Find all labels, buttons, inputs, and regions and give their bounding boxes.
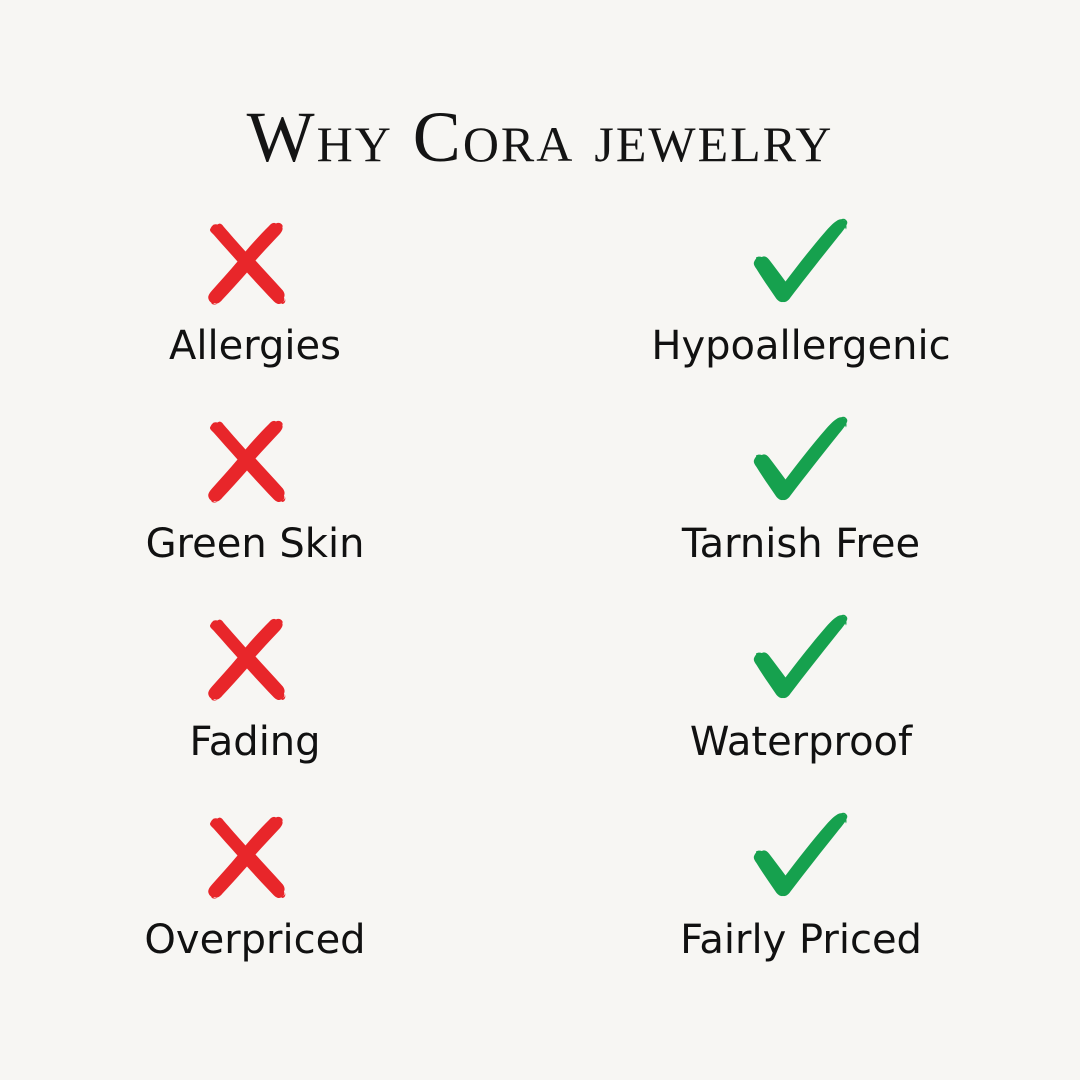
cross-icon [199,808,311,912]
con-cell: Green Skin [0,412,540,610]
con-label: Overpriced [144,918,365,962]
con-label: Allergies [169,324,341,368]
comparison-row: Green Skin Tarnish Free [0,412,1080,610]
check-icon [745,808,857,912]
pro-cell: Waterproof [540,610,1080,808]
con-cell: Allergies [0,214,540,412]
comparison-row: Overpriced Fairly Priced [0,808,1080,1006]
pro-label: Hypoallergenic [651,324,950,368]
page-title: Why Cora jewelry [0,96,1080,179]
con-label: Green Skin [146,522,365,566]
pro-cell: Tarnish Free [540,412,1080,610]
comparison-row: Allergies Hypoallergenic [0,214,1080,412]
cross-icon [199,214,311,318]
comparison-grid: Allergies Hypoallergenic [0,214,1080,1006]
pro-label: Tarnish Free [682,522,920,566]
cross-icon [199,610,311,714]
con-cell: Overpriced [0,808,540,1006]
con-label: Fading [189,720,320,764]
pro-label: Waterproof [690,720,912,764]
comparison-row: Fading Waterproof [0,610,1080,808]
pro-label: Fairly Priced [680,918,922,962]
check-icon [745,214,857,318]
con-cell: Fading [0,610,540,808]
check-icon [745,412,857,516]
cross-icon [199,412,311,516]
check-icon [745,610,857,714]
pro-cell: Fairly Priced [540,808,1080,1006]
poster: Why Cora jewelry Allergies [0,0,1080,1080]
pro-cell: Hypoallergenic [540,214,1080,412]
